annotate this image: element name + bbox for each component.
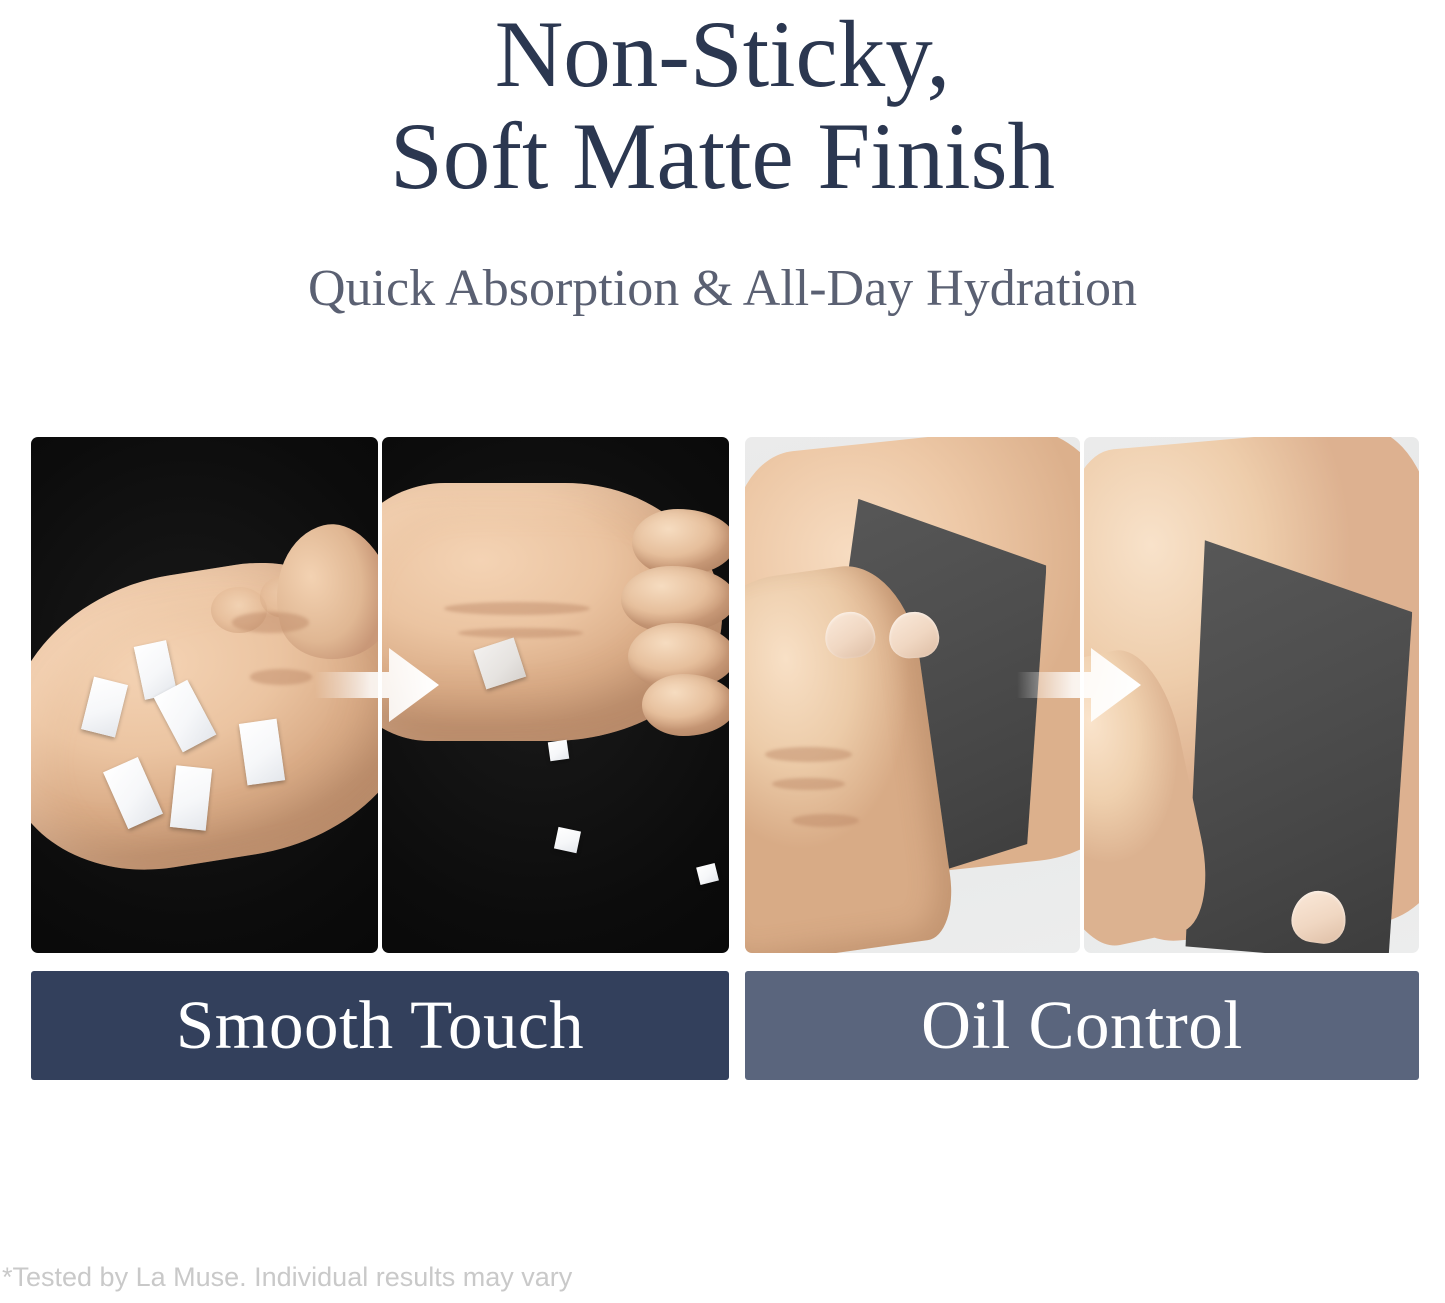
photo-oil-control-after xyxy=(1084,437,1419,953)
white-square-flake xyxy=(239,718,285,785)
photo-pair-smooth-touch xyxy=(31,437,729,953)
photo-oil-control-before xyxy=(745,437,1080,953)
photo-pair-oil-control xyxy=(745,437,1419,953)
white-square-flake-fallen xyxy=(553,827,580,853)
caption-bar-oil-control: Oil Control xyxy=(745,971,1419,1080)
blotting-sheet xyxy=(1171,540,1412,953)
disclaimer-footnote: *Tested by La Muse. Individual results m… xyxy=(2,1262,572,1293)
white-square-flake-fallen xyxy=(696,863,719,885)
caption-bar-smooth-touch: Smooth Touch xyxy=(31,971,729,1080)
page-subheadline: Quick Absorption & All-Day Hydration xyxy=(0,260,1445,317)
finger-shape xyxy=(642,674,729,736)
skin-crease xyxy=(444,602,590,615)
comparison-section: Smooth Touch xyxy=(31,437,1419,1080)
comparison-group-oil-control: Oil Control xyxy=(745,437,1419,1080)
photo-smooth-touch-after xyxy=(382,437,729,953)
skin-crease xyxy=(765,747,852,762)
white-square-flake-fallen xyxy=(547,740,568,761)
page-headline: Non-Sticky, Soft Matte Finish xyxy=(0,4,1445,207)
skin-crease xyxy=(232,612,308,633)
photo-smooth-touch-before xyxy=(31,437,378,953)
skin-crease xyxy=(250,669,312,684)
skin-crease xyxy=(792,814,859,827)
white-square-flake xyxy=(170,766,213,831)
comparison-group-smooth-touch: Smooth Touch xyxy=(31,437,729,1080)
